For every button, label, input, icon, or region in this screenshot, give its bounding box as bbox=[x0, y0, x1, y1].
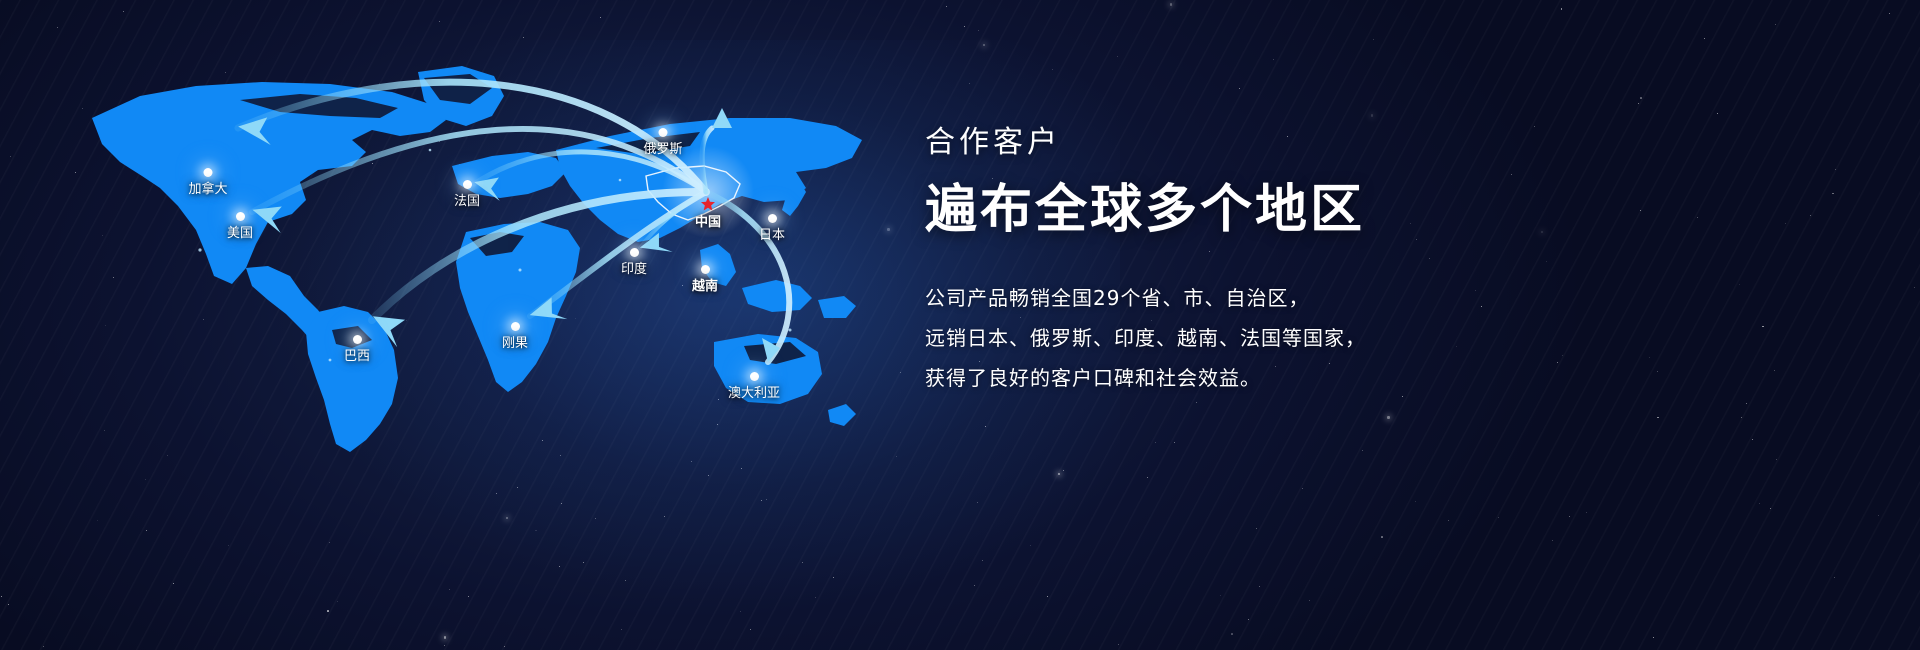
description-line: 获得了良好的客户口碑和社会效益。 bbox=[925, 358, 1685, 398]
location-dot-icon bbox=[700, 265, 709, 274]
map-marker-label: 加拿大 bbox=[188, 183, 227, 196]
map-marker-brazil[interactable]: 巴西 bbox=[344, 335, 370, 363]
text-panel: 合作客户 遍布全球多个地区 公司产品畅销全国29个省、市、自治区，远销日本、俄罗… bbox=[925, 128, 1685, 398]
location-dot-icon bbox=[352, 335, 361, 344]
map-marker-label: 俄罗斯 bbox=[643, 143, 682, 156]
eyebrow-text: 合作客户 bbox=[925, 128, 1685, 158]
page-title: 遍布全球多个地区 bbox=[925, 184, 1685, 236]
map-marker-canada[interactable]: 加拿大 bbox=[188, 168, 227, 196]
map-marker-usa[interactable]: 美国 bbox=[227, 212, 253, 240]
location-dot-icon bbox=[658, 128, 667, 137]
map-marker-label: 日本 bbox=[759, 229, 785, 242]
description-line: 公司产品畅销全国29个省、市、自治区， bbox=[925, 278, 1685, 318]
map-marker-japan[interactable]: 日本 bbox=[759, 214, 785, 242]
banner-stage: 加拿大美国巴西法国刚果印度俄罗斯越南日本澳大利亚 中国 合作客户 遍布全球多个地… bbox=[0, 0, 1920, 650]
location-dot-icon bbox=[749, 372, 758, 381]
map-marker-label: 中国 bbox=[695, 216, 721, 229]
description-paragraph: 公司产品畅销全国29个省、市、自治区，远销日本、俄罗斯、印度、越南、法国等国家，… bbox=[925, 278, 1685, 398]
map-marker-label: 巴西 bbox=[344, 350, 370, 363]
map-marker-label: 刚果 bbox=[502, 337, 528, 350]
location-dot-icon bbox=[510, 322, 519, 331]
map-marker-congo[interactable]: 刚果 bbox=[502, 322, 528, 350]
location-dot-icon bbox=[203, 168, 212, 177]
map-marker-australia[interactable]: 澳大利亚 bbox=[728, 372, 780, 400]
map-marker-france[interactable]: 法国 bbox=[454, 180, 480, 208]
map-marker-label: 美国 bbox=[227, 227, 253, 240]
map-marker-china[interactable]: 中国 bbox=[695, 196, 721, 229]
map-marker-vietnam[interactable]: 越南 bbox=[692, 265, 718, 293]
map-marker-label: 越南 bbox=[692, 280, 718, 293]
map-marker-label: 澳大利亚 bbox=[728, 387, 780, 400]
location-dot-icon bbox=[767, 214, 776, 223]
map-marker-label: 法国 bbox=[454, 195, 480, 208]
map-marker-label: 印度 bbox=[621, 263, 647, 276]
location-dot-icon bbox=[629, 248, 638, 257]
red-star-icon bbox=[700, 196, 716, 212]
world-map: 加拿大美国巴西法国刚果印度俄罗斯越南日本澳大利亚 中国 bbox=[0, 0, 1000, 650]
location-dot-icon bbox=[235, 212, 244, 221]
world-map-svg bbox=[0, 0, 1000, 650]
location-dot-icon bbox=[462, 180, 471, 189]
map-marker-india[interactable]: 印度 bbox=[621, 248, 647, 276]
description-line: 远销日本、俄罗斯、印度、越南、法国等国家， bbox=[925, 318, 1685, 358]
map-marker-russia[interactable]: 俄罗斯 bbox=[643, 128, 682, 156]
